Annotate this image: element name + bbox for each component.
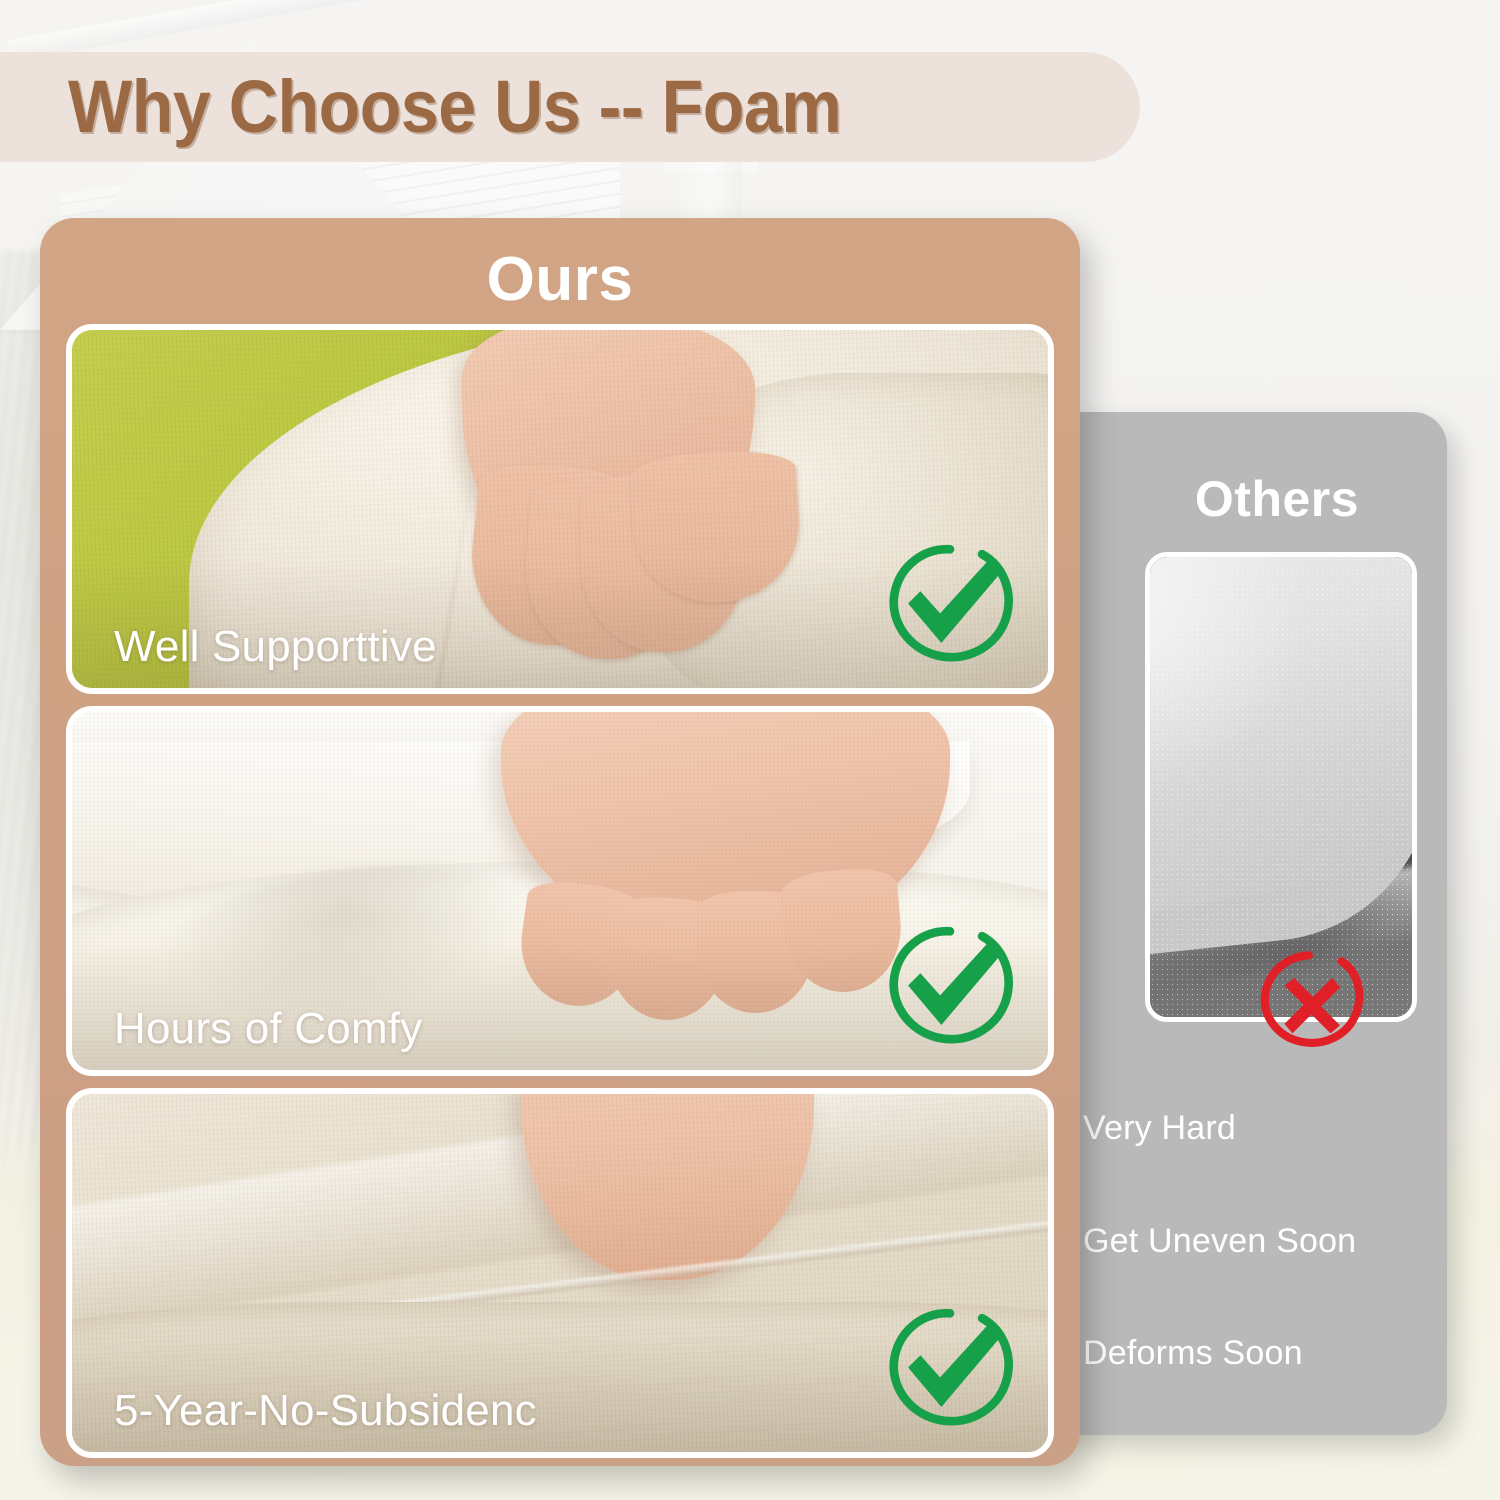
title-banner: Why Choose Us -- Foam xyxy=(0,52,1140,162)
others-panel: Others Very Hard Get Uneven Soon Deforms… xyxy=(1047,412,1447,1435)
ours-heading: Ours xyxy=(40,244,1080,315)
check-circle-icon xyxy=(876,532,1024,680)
others-heading: Others xyxy=(1047,470,1447,528)
others-con-item: Very Hard xyxy=(1083,1109,1236,1148)
check-circle-icon xyxy=(876,914,1024,1062)
ours-card: Ours Well Supporttive xyxy=(40,218,1080,1466)
ours-photo-well-supportive: Well Supporttive xyxy=(66,324,1054,694)
page-title: Why Choose Us -- Foam xyxy=(68,70,841,144)
cross-circle-icon xyxy=(1252,939,1374,1061)
ours-pro-label: Well Supporttive xyxy=(114,622,437,672)
ours-pro-label: 5-Year-No-Subsidenc xyxy=(114,1386,537,1436)
others-con-item: Deforms Soon xyxy=(1083,1334,1303,1373)
others-con-item: Get Uneven Soon xyxy=(1083,1222,1356,1261)
ours-photo-hours-of-comfy: Hours of Comfy xyxy=(66,706,1054,1076)
ours-pro-label: Hours of Comfy xyxy=(114,1004,422,1054)
check-circle-icon xyxy=(876,1296,1024,1444)
ours-photo-no-subsidence: 5-Year-No-Subsidenc xyxy=(66,1088,1054,1458)
infographic-root: Why Choose Us -- Foam Others Very Hard G… xyxy=(0,0,1500,1500)
